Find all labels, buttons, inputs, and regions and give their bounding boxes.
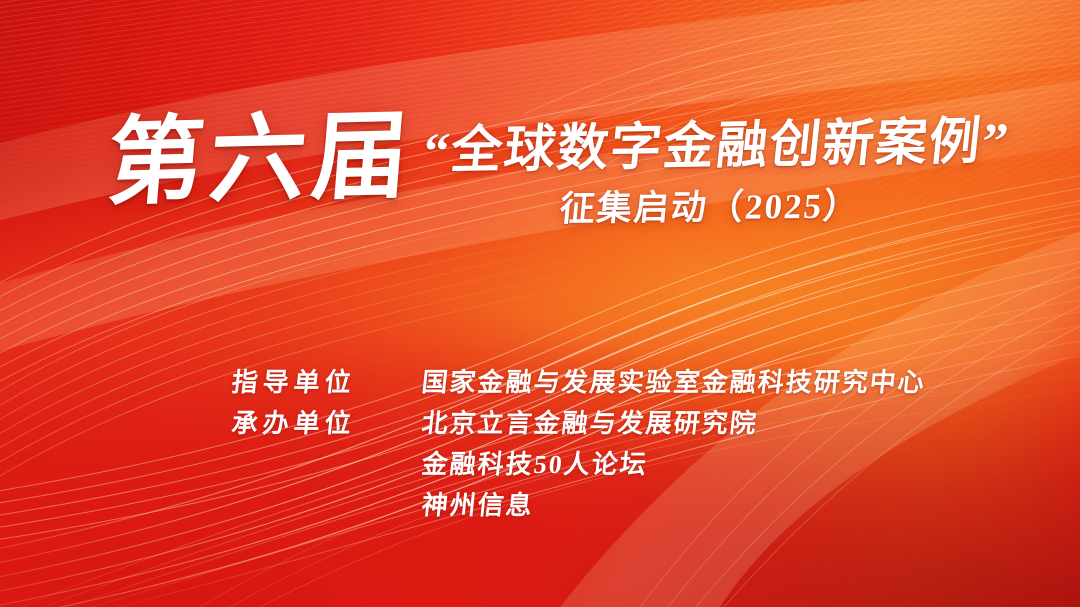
credits-block: 指导单位 国家金融与发展实验室金融科技研究中心 承办单位 北京立言金融与发展研究… [232, 362, 926, 520]
credit-value: 北京立言金融与发展研究院 [420, 403, 760, 440]
subtitle-text: 征集启动（2025） [558, 188, 862, 226]
credit-value: 金融科技50人论坛 [420, 444, 650, 481]
credit-value: 神州信息 [420, 485, 536, 522]
page-title: 第六届 [104, 108, 418, 211]
credit-label: 承办单位 [230, 403, 424, 440]
poster-canvas: 第六届 “全球数字金融创新案例” 征集启动（2025） 指导单位 国家金融与发展… [0, 0, 1080, 607]
credit-value: 国家金融与发展实验室金融科技研究中心 [420, 362, 928, 399]
headline-text: “全球数字金融创新案例” [421, 117, 1013, 178]
credit-label: 指导单位 [230, 362, 424, 399]
credit-row: 神州信息 [232, 485, 926, 520]
credit-row: 金融科技50人论坛 [232, 444, 926, 479]
credit-row: 承办单位 北京立言金融与发展研究院 [232, 403, 926, 438]
credit-row: 指导单位 国家金融与发展实验室金融科技研究中心 [232, 362, 926, 397]
